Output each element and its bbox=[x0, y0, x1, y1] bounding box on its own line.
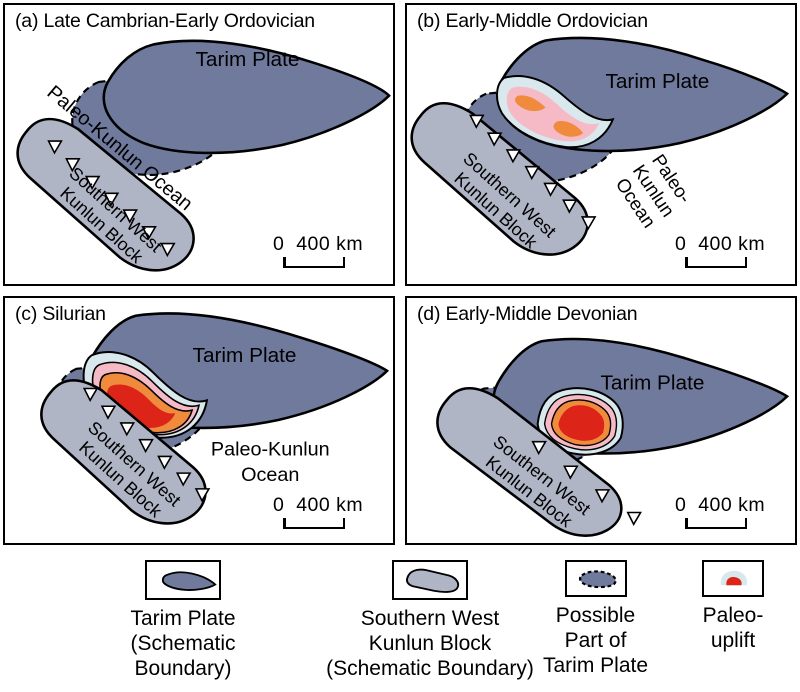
figure-root: (a) Late Cambrian-Early Ordovician Tarim… bbox=[0, 0, 800, 692]
panel-d: (d) Early-Middle Devonian Tarim Plate So… bbox=[405, 296, 797, 545]
legend-label-paleo-uplift: Paleo- uplift bbox=[668, 603, 798, 653]
scalebar-b: 0 400 km bbox=[675, 233, 795, 268]
scalebar-a: 0 400 km bbox=[273, 233, 393, 268]
scalebar-b-distance: 400 km bbox=[698, 233, 765, 255]
svg-text:Paleo-Kunlun: Paleo-Kunlun bbox=[211, 438, 330, 460]
svg-text:Ocean: Ocean bbox=[241, 464, 299, 486]
scalebar-d: 0 400 km bbox=[675, 494, 795, 529]
tarim-plate-label-c: Tarim Plate bbox=[193, 344, 297, 367]
possible-part-swatch bbox=[565, 560, 627, 597]
scalebar-a-distance: 400 km bbox=[296, 233, 363, 255]
scalebar-b-zero: 0 bbox=[675, 233, 686, 255]
scalebar-c-zero: 0 bbox=[273, 494, 284, 516]
legend-label-possible-part: Possible Part of Tarim Plate bbox=[508, 603, 683, 678]
tarim-plate-label-a: Tarim Plate bbox=[196, 48, 300, 71]
tarim-plate-label-b: Tarim Plate bbox=[605, 70, 709, 93]
scalebar-d-zero: 0 bbox=[675, 494, 686, 516]
scalebar-c: 0 400 km bbox=[273, 494, 393, 529]
scalebar-a-zero: 0 bbox=[273, 233, 284, 255]
panel-b: (b) Early-Middle Ordovician Tarim bbox=[405, 3, 797, 286]
legend-item-possible-part: Possible Part of Tarim Plate bbox=[508, 560, 683, 678]
paleo-uplift-swatch bbox=[702, 560, 764, 597]
legend: Tarim Plate (Schematic Boundary) Souther… bbox=[0, 548, 800, 692]
panel-a: (a) Late Cambrian-Early Ordovician Tarim… bbox=[3, 3, 395, 286]
legend-item-paleo-uplift: Paleo- uplift bbox=[668, 560, 798, 653]
ocean-label-c: Paleo-Kunlun Ocean bbox=[211, 438, 330, 486]
ocean-label-b: Paleo- Kunlun Ocean bbox=[611, 149, 697, 233]
kunlun-block-swatch bbox=[392, 560, 468, 600]
tarim-plate-label-d: Tarim Plate bbox=[601, 372, 705, 395]
panel-c: (c) Silurian Tarim Plate bbox=[3, 296, 395, 545]
scalebar-c-distance: 400 km bbox=[296, 494, 363, 516]
tarim-plate-swatch bbox=[145, 560, 221, 600]
scalebar-d-distance: 400 km bbox=[698, 494, 765, 516]
